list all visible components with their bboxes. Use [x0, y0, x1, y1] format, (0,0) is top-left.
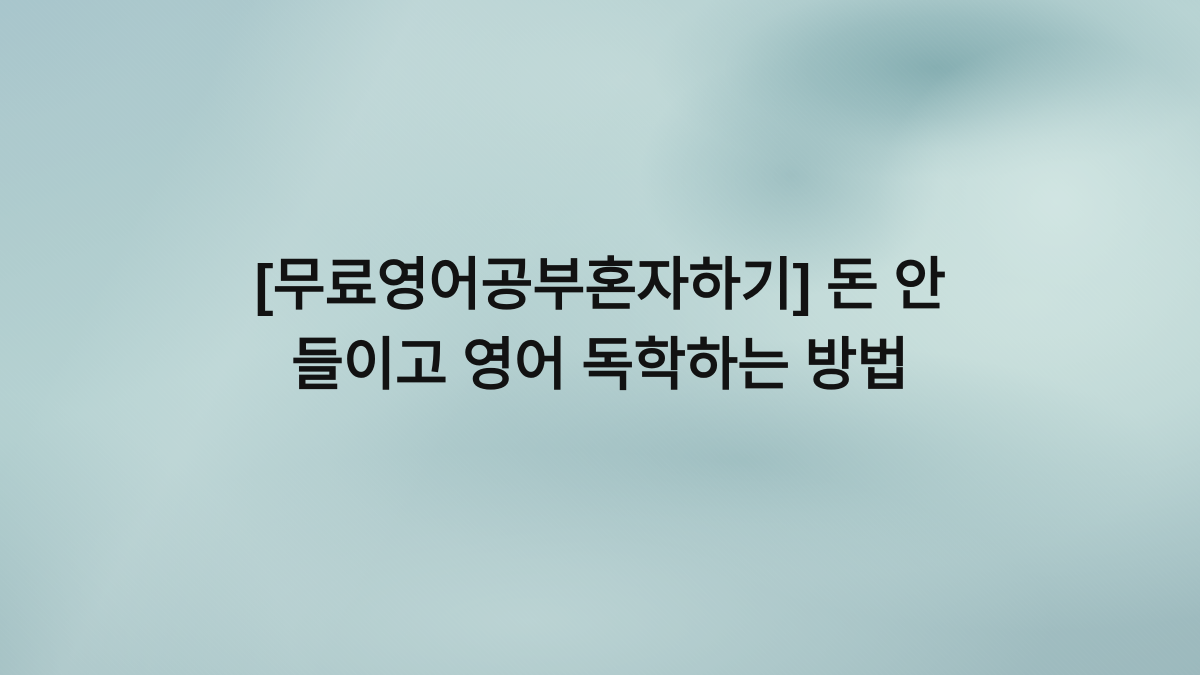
thumbnail-card: [무료영어공부혼자하기] 돈 안 들이고 영어 독학하는 방법 [0, 0, 1200, 675]
headline-line-2: 들이고 영어 독학하는 방법 [80, 325, 1120, 405]
headline-line-1: [무료영어공부혼자하기] 돈 안 [80, 245, 1120, 325]
headline-block: [무료영어공부혼자하기] 돈 안 들이고 영어 독학하는 방법 [0, 245, 1200, 405]
